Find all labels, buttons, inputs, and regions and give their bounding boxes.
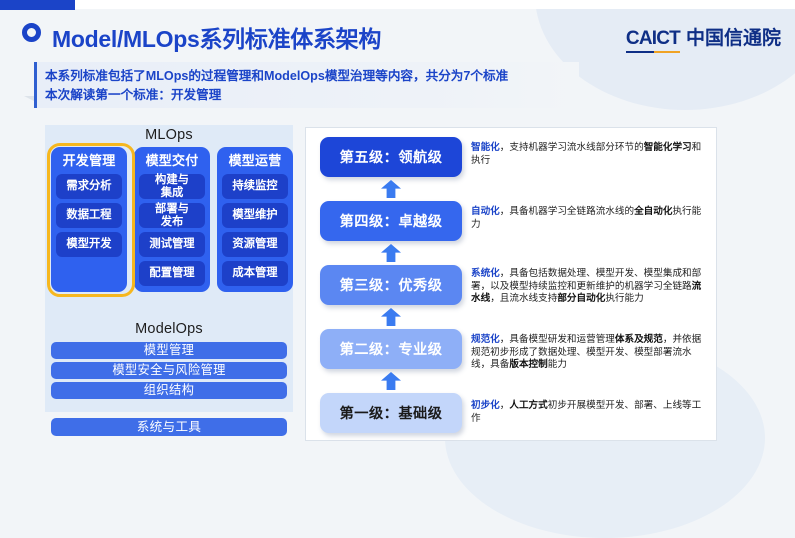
modelops-rows: 模型管理模型安全与风险管理组织结构	[45, 342, 293, 399]
mlops-subitem[interactable]: 测试管理	[139, 232, 205, 257]
maturity-descriptions: 智能化，支持机器学习流水线部分环节的智能化学习和执行自动化，具备机器学习全链路流…	[471, 128, 709, 442]
slide-header: Model/MLOps系列标准体系架构 CAICT 中国信通院	[0, 9, 795, 57]
mlops-label: MLOps	[45, 127, 293, 143]
mlops-subitem[interactable]: 需求分析	[56, 174, 122, 199]
mlops-subitem[interactable]: 资源管理	[222, 232, 288, 257]
logo-mark-label: CAICT	[626, 28, 680, 49]
subtitle-line-2: 本次解读第一个标准：开发管理	[45, 86, 579, 105]
modelops-panel: ModelOps 模型管理模型安全与风险管理组织结构	[45, 318, 293, 412]
mlops-column-2[interactable]: 模型交付构建与集成部署与发布测试管理配置管理	[134, 147, 210, 292]
modelops-label: ModelOps	[45, 319, 293, 339]
mlops-panel: MLOps 开发管理需求分析数据工程模型开发模型交付构建与集成部署与发布测试管理…	[45, 125, 293, 318]
maturity-description-2: 规范化，具备模型研发和运营管理体系及规范，并依据规范初步形成了数据处理、模型开发…	[471, 334, 703, 372]
logo-chinese-name: 中国信通院	[686, 23, 781, 50]
up-arrow-icon	[381, 180, 401, 198]
system-and-tools-row: 系统与工具	[51, 418, 287, 436]
subtitle-line-1: 本系列标准包括了MLOps的过程管理和ModelOps模型治理等内容，共分为7个…	[45, 67, 579, 86]
mlops-subitem[interactable]: 成本管理	[222, 261, 288, 286]
page-title: Model/MLOps系列标准体系架构	[52, 20, 381, 54]
mlops-column-1[interactable]: 开发管理需求分析数据工程模型开发	[51, 147, 127, 292]
maturity-level-box-5[interactable]: 第五级：领航级	[320, 137, 462, 177]
mlops-subitem[interactable]: 持续监控	[222, 174, 288, 199]
mlops-subitem[interactable]: 数据工程	[56, 203, 122, 228]
maturity-description-4: 自动化，具备机器学习全链路流水线的全自动化执行能力	[471, 206, 703, 231]
logo-underline-orange	[654, 51, 680, 54]
maturity-description-1: 初步化，人工方式初步开展模型开发、部署、上线等工作	[471, 400, 703, 425]
mlops-column-title: 模型运营	[222, 151, 288, 170]
mlops-column-3[interactable]: 模型运营持续监控模型维护资源管理成本管理	[217, 147, 293, 292]
subtitle-band: 本系列标准包括了MLOps的过程管理和ModelOps模型治理等内容，共分为7个…	[34, 62, 579, 108]
mlops-subitem[interactable]: 部署与发布	[139, 203, 205, 228]
caict-logo: CAICT 中国信通院	[626, 23, 781, 53]
maturity-level-box-3[interactable]: 第三级：优秀级	[320, 265, 462, 305]
mlops-subitem[interactable]: 模型维护	[222, 203, 288, 228]
maturity-level-box-1[interactable]: 第一级：基础级	[320, 393, 462, 433]
maturity-level-box-4[interactable]: 第四级：卓越级	[320, 201, 462, 241]
mlops-column-title: 开发管理	[56, 151, 122, 170]
modelops-row[interactable]: 组织结构	[51, 382, 287, 399]
maturity-level-box-2[interactable]: 第二级：专业级	[320, 329, 462, 369]
up-arrow-icon	[381, 244, 401, 262]
ring-icon	[22, 23, 41, 42]
up-arrow-icon	[381, 372, 401, 390]
modelops-row[interactable]: 模型安全与风险管理	[51, 362, 287, 379]
logo-mark-text: CAICT	[626, 28, 680, 53]
maturity-levels: 第五级：领航级第四级：卓越级第三级：优秀级第二级：专业级第一级：基础级	[320, 137, 462, 433]
mlops-columns: 开发管理需求分析数据工程模型开发模型交付构建与集成部署与发布测试管理配置管理模型…	[51, 147, 293, 292]
mlops-subitem[interactable]: 构建与集成	[139, 174, 205, 199]
maturity-model-card: 第五级：领航级第四级：卓越级第三级：优秀级第二级：专业级第一级：基础级 智能化，…	[305, 127, 717, 441]
mlops-subitem[interactable]: 配置管理	[139, 261, 205, 286]
mlops-column-title: 模型交付	[139, 151, 205, 170]
maturity-description-5: 智能化，支持机器学习流水线部分环节的智能化学习和执行	[471, 142, 703, 167]
top-white-strip	[0, 0, 795, 9]
logo-underline-blue	[626, 51, 654, 54]
maturity-description-3: 系统化，具备包括数据处理、模型开发、模型集成和部署，以及模型持续监控和更新维护的…	[471, 268, 703, 306]
mlops-subitem[interactable]: 模型开发	[56, 232, 122, 257]
modelops-row[interactable]: 模型管理	[51, 342, 287, 359]
standards-architecture-diagram: MLOps 开发管理需求分析数据工程模型开发模型交付构建与集成部署与发布测试管理…	[45, 125, 293, 443]
up-arrow-icon	[381, 308, 401, 326]
